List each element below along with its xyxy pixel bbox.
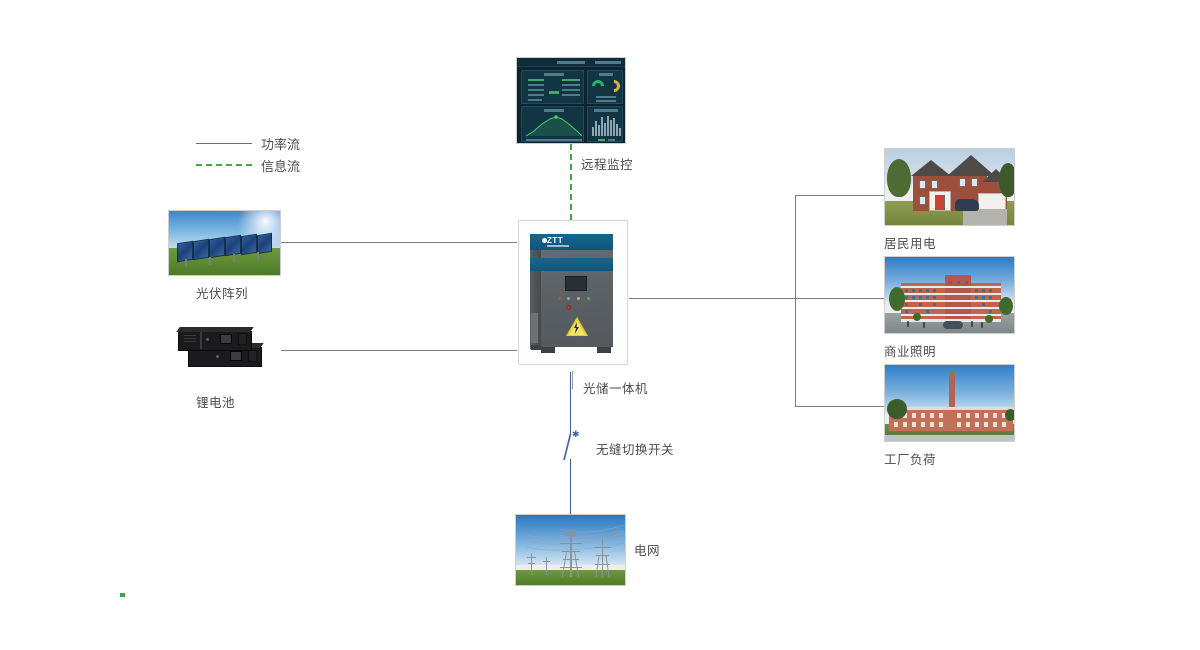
- connector-bus-to-factory: [795, 406, 885, 407]
- remote-monitoring-label: 远程监控: [581, 154, 633, 173]
- residential-label: 居民用电: [884, 233, 936, 252]
- load-distribution-bus: [795, 195, 796, 406]
- connector-bus-to-commercial: [795, 298, 885, 299]
- inverter-image: ZTT: [518, 220, 628, 365]
- inverter-label: 光储一体机: [583, 378, 648, 397]
- diagram-canvas: 功率流 信息流 ✱: [0, 0, 1200, 650]
- connector-inverter-to-load-bus: [629, 298, 796, 299]
- connector-monitoring-to-inverter: [570, 144, 572, 220]
- grid-label: 电网: [634, 540, 660, 559]
- info-flow-line-swatch: [196, 164, 252, 166]
- battery-image: [163, 318, 281, 380]
- legend-label-info-flow: 信息流: [261, 156, 300, 175]
- seamless-switch-label: 无缝切换开关: [596, 439, 674, 458]
- connector-switch-to-grid-lower: [570, 459, 571, 515]
- battery-label: 锂电池: [196, 392, 235, 411]
- legend-item-power-flow: 功率流: [196, 132, 300, 154]
- seamless-switch-symbol: [560, 432, 584, 464]
- pv-array-image: [168, 210, 281, 276]
- remote-monitoring-image: [516, 57, 626, 144]
- connector-battery-to-inverter: [281, 350, 517, 351]
- legend: 功率流 信息流: [196, 132, 300, 176]
- pv-array-label: 光伏阵列: [196, 283, 248, 302]
- factory-image: [884, 364, 1015, 442]
- commercial-label: 商业照明: [884, 341, 936, 360]
- connector-pv-to-inverter: [281, 242, 517, 243]
- factory-label: 工厂负荷: [884, 449, 936, 468]
- grid-image: [515, 514, 626, 586]
- inverter-brand-logo: ZTT: [547, 236, 563, 245]
- connector-bus-to-residential: [795, 195, 885, 196]
- legend-item-info-flow: 信息流: [196, 154, 300, 176]
- residential-image: [884, 148, 1015, 226]
- inverter-label-tick: [572, 371, 573, 389]
- power-flow-line-swatch: [196, 143, 252, 144]
- stray-green-mark: [120, 593, 125, 597]
- commercial-image: [884, 256, 1015, 334]
- legend-label-power-flow: 功率流: [261, 134, 300, 153]
